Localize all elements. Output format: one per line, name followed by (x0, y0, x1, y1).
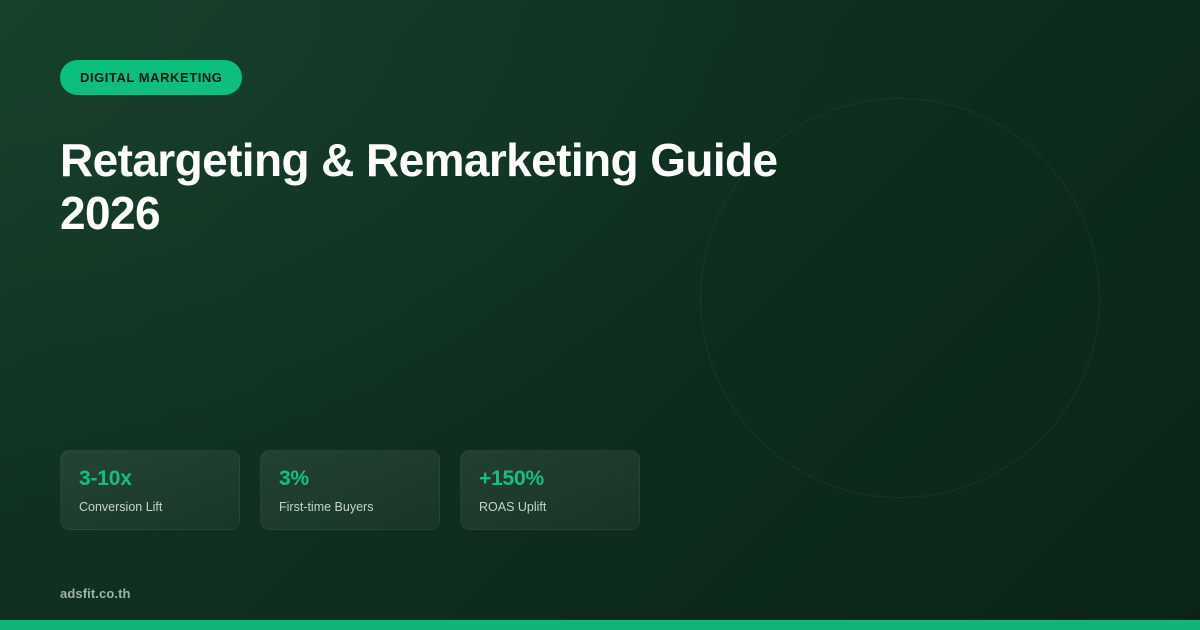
category-badge-label: DIGITAL MARKETING (80, 70, 222, 85)
stat-value: 3-10x (79, 467, 221, 491)
hero-banner: DIGITAL MARKETING Retargeting & Remarket… (0, 0, 1200, 630)
site-url: adsfit.co.th (60, 586, 131, 601)
stats-row: 3-10x Conversion Lift 3% First-time Buye… (60, 450, 640, 530)
stat-card: 3% First-time Buyers (260, 450, 440, 530)
stat-value: 3% (279, 467, 421, 491)
stat-label: ROAS Uplift (479, 500, 621, 515)
stat-card: 3-10x Conversion Lift (60, 450, 240, 530)
stat-value: +150% (479, 467, 621, 491)
stat-card: +150% ROAS Uplift (460, 450, 640, 530)
bottom-accent-bar (0, 620, 1200, 630)
page-title: Retargeting & Remarketing Guide 2026 (60, 134, 780, 240)
stat-label: Conversion Lift (79, 500, 221, 515)
stat-label: First-time Buyers (279, 500, 421, 515)
category-badge: DIGITAL MARKETING (60, 60, 242, 95)
